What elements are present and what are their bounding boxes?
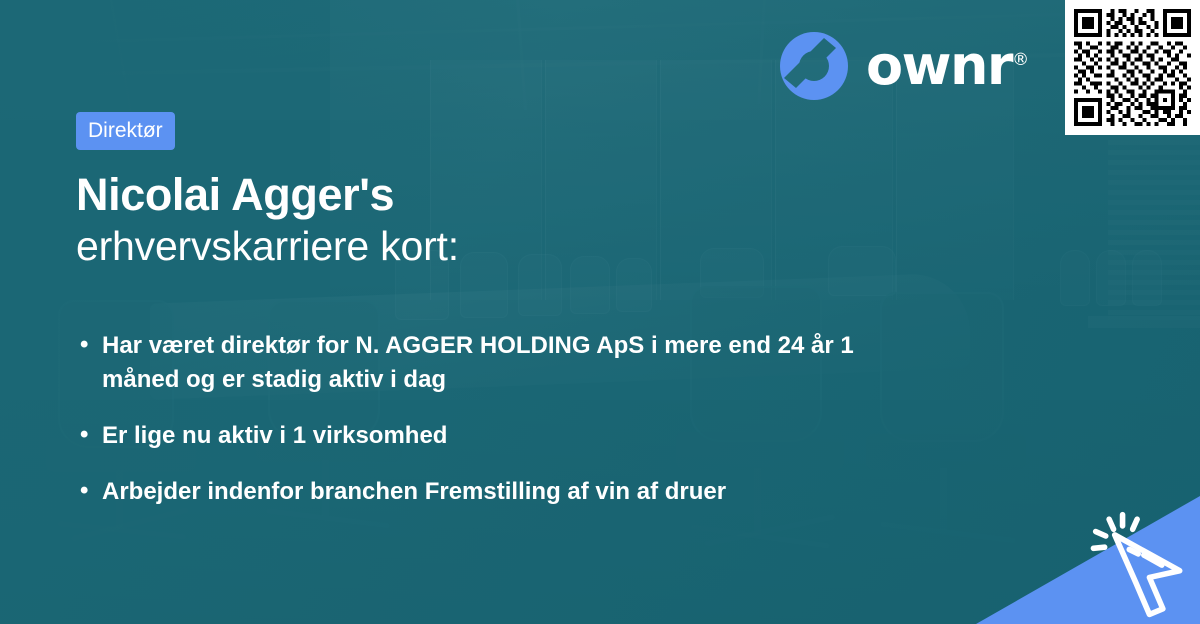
qr-code-image bbox=[1074, 9, 1191, 126]
logo-word-text: ownr bbox=[866, 34, 1012, 97]
card-content: Direktør Nicolai Agger's erhvervskarrier… bbox=[76, 112, 956, 531]
qr-code[interactable] bbox=[1065, 0, 1200, 135]
ownr-circular-swirl-logo-icon bbox=[778, 30, 850, 102]
business-career-card: ownr® bbox=[0, 0, 1200, 624]
list-item: Arbejder indenfor branchen Fremstilling … bbox=[76, 475, 876, 509]
ownr-logo[interactable]: ownr® bbox=[778, 30, 1029, 102]
role-badge: Direktør bbox=[76, 112, 175, 150]
click-cursor-icon bbox=[1080, 508, 1192, 620]
page-title: Nicolai Agger's bbox=[76, 170, 956, 220]
list-item: Er lige nu aktiv i 1 virksomhed bbox=[76, 419, 876, 453]
career-facts-list: Har været direktør for N. AGGER HOLDING … bbox=[76, 329, 956, 509]
ownr-wordmark: ownr® bbox=[866, 39, 1029, 93]
registered-trademark-icon: ® bbox=[1012, 50, 1029, 70]
list-item: Har været direktør for N. AGGER HOLDING … bbox=[76, 329, 876, 397]
page-subtitle: erhvervskarriere kort: bbox=[76, 222, 956, 270]
